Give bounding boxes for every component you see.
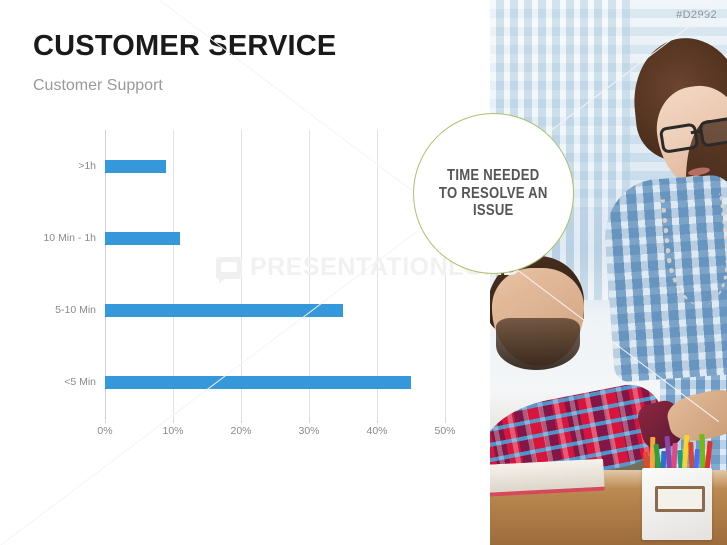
page-subtitle: Customer Support (33, 77, 163, 95)
chart-x-tick-label: 10% (162, 425, 183, 437)
chart-tick-mark (173, 418, 174, 423)
hero-photo (490, 0, 727, 545)
photo-colored-pencils (642, 428, 714, 472)
chart-tick-mark (377, 418, 378, 423)
callout-line-2: TO RESOLVE AN (439, 185, 548, 202)
callout-line-3: ISSUE (473, 202, 514, 219)
chart-bar[interactable] (105, 160, 166, 173)
horizontal-bar-chart: 0%10%20%30%40%50%<5 Min5-10 Min10 Min - … (33, 118, 463, 458)
chart-category-label: 10 Min - 1h (43, 232, 96, 244)
chart-tick-mark (445, 418, 446, 423)
callout-line-1: TIME NEEDED (447, 167, 539, 184)
chart-tick-mark (309, 418, 310, 423)
chart-category-label: 5-10 Min (55, 304, 96, 316)
chart-tick-mark (105, 418, 106, 423)
chart-bar[interactable] (105, 376, 411, 389)
chart-gridline (241, 130, 242, 418)
page-title: CUSTOMER SERVICE (33, 30, 336, 63)
chart-x-tick-label: 50% (434, 425, 455, 437)
chart-gridline (309, 130, 310, 418)
chart-category-label: >1h (78, 160, 96, 172)
chart-tick-mark (241, 418, 242, 423)
slide-id-label: #D2992 (676, 9, 717, 21)
chart-x-tick-label: 30% (298, 425, 319, 437)
chart-x-tick-label: 0% (97, 425, 112, 437)
photo-pencil-box-label (655, 486, 705, 512)
callout-badge-text: TIME NEEDED TO RESOLVE AN ISSUE (439, 167, 548, 221)
slide-canvas: #D2992 CUSTOMER SERVICE Customer Support… (0, 0, 727, 545)
chart-bar[interactable] (105, 232, 180, 245)
chart-bar[interactable] (105, 304, 343, 317)
chart-category-label: <5 Min (64, 376, 96, 388)
chart-plot-area: 0%10%20%30%40%50%<5 Min5-10 Min10 Min - … (105, 130, 445, 418)
chart-x-tick-label: 20% (230, 425, 251, 437)
chart-x-tick-label: 40% (366, 425, 387, 437)
chart-gridline (105, 130, 106, 418)
callout-badge: TIME NEEDED TO RESOLVE AN ISSUE (413, 113, 574, 274)
chart-gridline (173, 130, 174, 418)
chart-gridline (377, 130, 378, 418)
